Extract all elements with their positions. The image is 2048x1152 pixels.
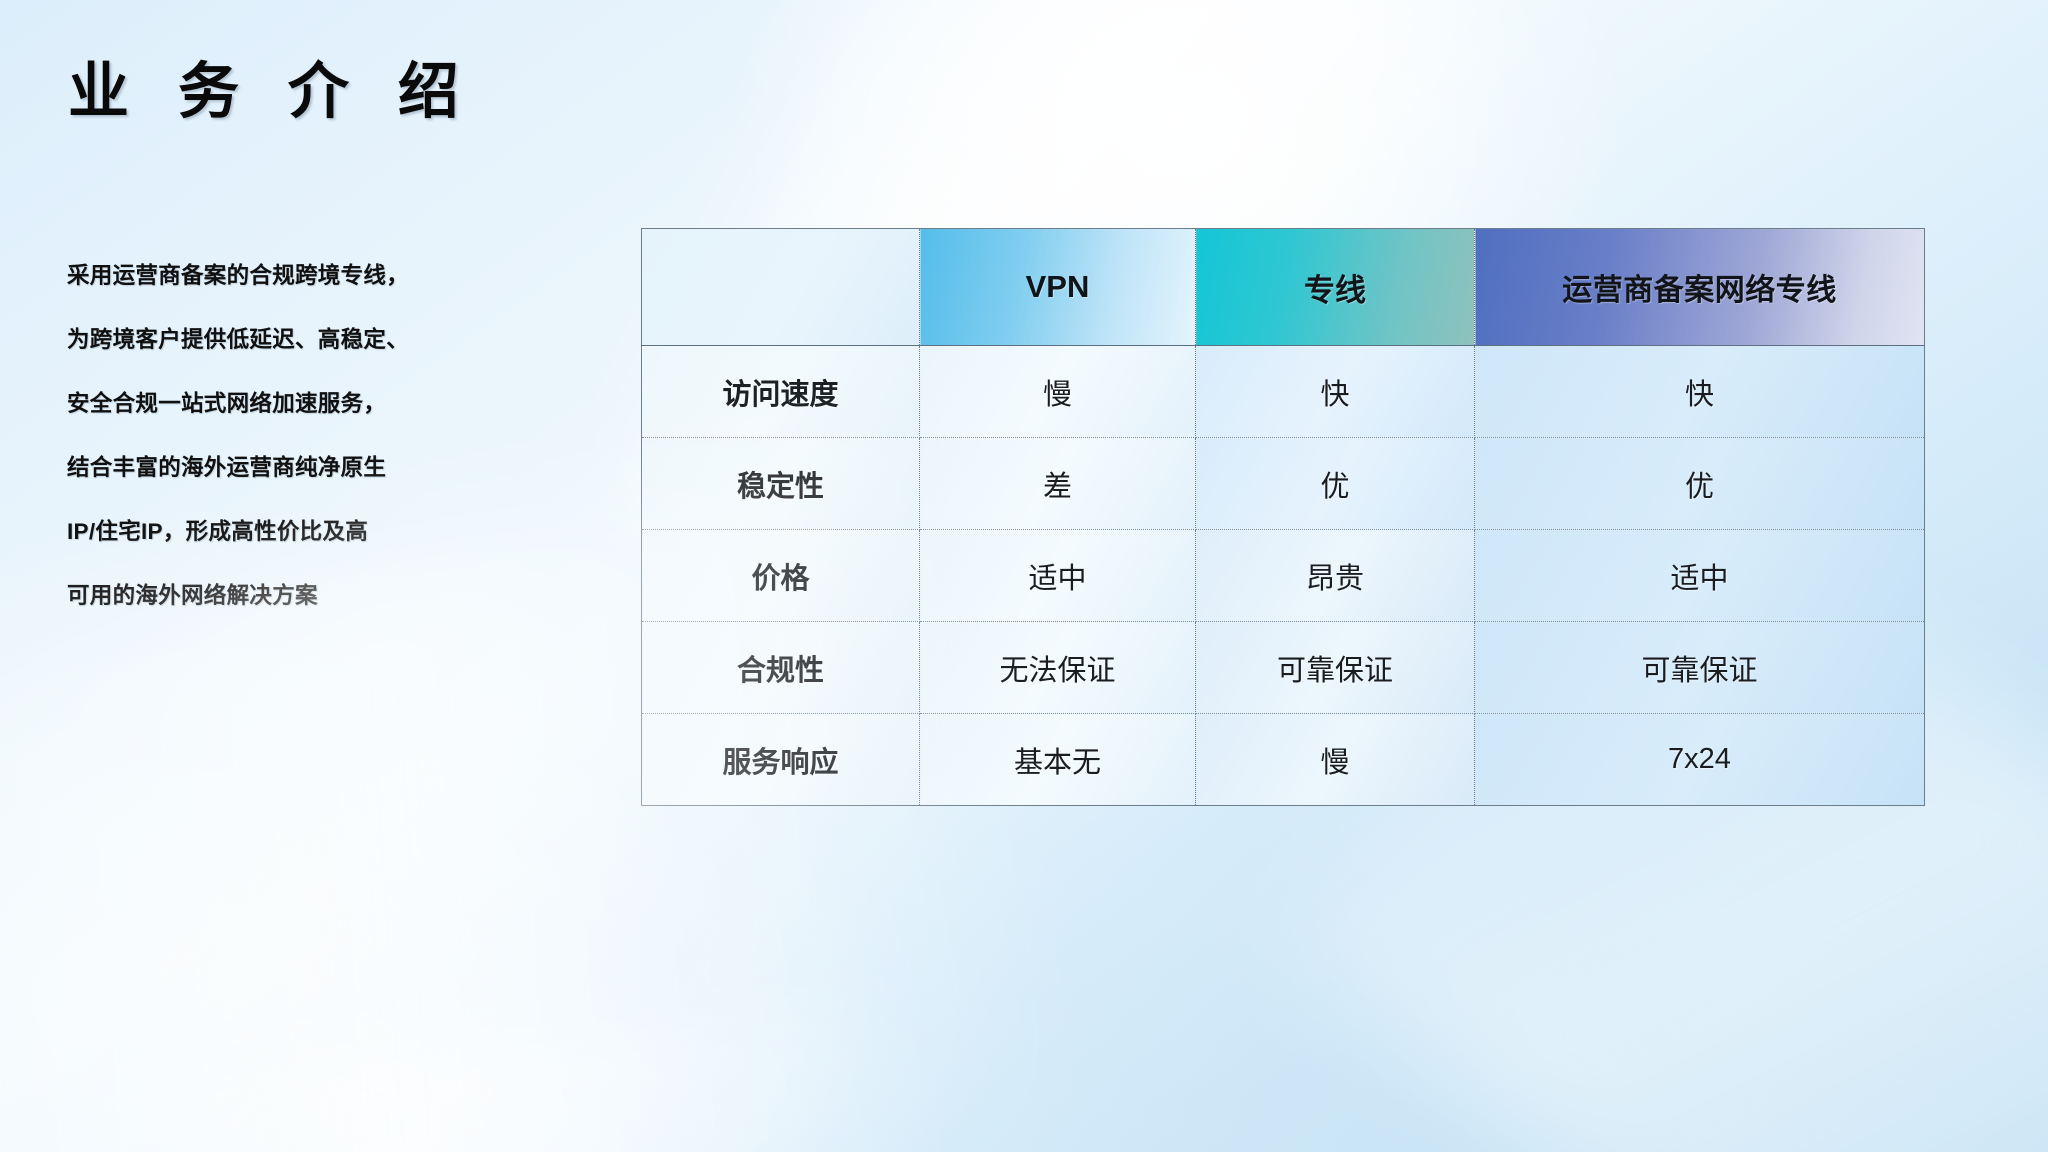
table-cell-vpn: 差 xyxy=(920,438,1196,530)
table-row-label: 稳定性 xyxy=(642,438,920,530)
intro-line: 可用的海外网络解决方案 xyxy=(67,564,487,628)
intro-line: 安全合规一站式网络加速服务， xyxy=(67,372,487,436)
table-row-label: 服务响应 xyxy=(642,714,920,806)
comparison-table: VPN 专线 运营商备案网络专线 访问速度 慢 快 快 稳定性 差 优 优 价格… xyxy=(641,228,1925,806)
table-header-row: VPN 专线 运营商备案网络专线 xyxy=(642,229,1925,346)
table-cell-line: 昂贵 xyxy=(1196,530,1475,622)
table-cell-line: 快 xyxy=(1196,346,1475,438)
table-row: 价格 适中 昂贵 适中 xyxy=(642,530,1925,622)
table-cell-vpn: 适中 xyxy=(920,530,1196,622)
table-row-label: 价格 xyxy=(642,530,920,622)
table-header: VPN 专线 运营商备案网络专线 xyxy=(642,229,1925,346)
table-row: 访问速度 慢 快 快 xyxy=(642,346,1925,438)
table-row: 合规性 无法保证 可靠保证 可靠保证 xyxy=(642,622,1925,714)
table-header-cell-vpn: VPN xyxy=(920,229,1196,346)
background-light-streak xyxy=(27,994,953,1152)
table-cell-carrier: 适中 xyxy=(1475,530,1925,622)
table-row: 服务响应 基本无 慢 7x24 xyxy=(642,714,1925,806)
intro-line: 为跨境客户提供低延迟、高稳定、 xyxy=(67,308,487,372)
table-cell-carrier: 可靠保证 xyxy=(1475,622,1925,714)
table-cell-carrier: 优 xyxy=(1475,438,1925,530)
table-cell-line: 可靠保证 xyxy=(1196,622,1475,714)
table-row-label: 访问速度 xyxy=(642,346,920,438)
table-header-cell-carrier-registered-line: 运营商备案网络专线 xyxy=(1475,229,1925,346)
table-body: 访问速度 慢 快 快 稳定性 差 优 优 价格 适中 昂贵 适中 合规性 无法保… xyxy=(642,346,1925,806)
table-row-label: 合规性 xyxy=(642,622,920,714)
table-cell-vpn: 慢 xyxy=(920,346,1196,438)
table-cell-vpn: 无法保证 xyxy=(920,622,1196,714)
table-header-cell-dedicated-line: 专线 xyxy=(1196,229,1475,346)
table-cell-line: 优 xyxy=(1196,438,1475,530)
table-cell-carrier: 7x24 xyxy=(1475,714,1925,806)
table-cell-line: 慢 xyxy=(1196,714,1475,806)
intro-paragraph: 采用运营商备案的合规跨境专线， 为跨境客户提供低延迟、高稳定、 安全合规一站式网… xyxy=(67,244,487,628)
table-cell-carrier: 快 xyxy=(1475,346,1925,438)
table-header-cell-blank xyxy=(642,229,920,346)
table-cell-vpn: 基本无 xyxy=(920,714,1196,806)
intro-line: 采用运营商备案的合规跨境专线， xyxy=(67,244,487,308)
table-row: 稳定性 差 优 优 xyxy=(642,438,1925,530)
page-title: 业 务 介 绍 xyxy=(68,58,475,125)
intro-line: IP/住宅IP，形成高性价比及高 xyxy=(67,500,487,564)
slide-canvas: 业 务 介 绍 采用运营商备案的合规跨境专线， 为跨境客户提供低延迟、高稳定、 … xyxy=(0,0,2048,1152)
intro-line: 结合丰富的海外运营商纯净原生 xyxy=(67,436,487,500)
